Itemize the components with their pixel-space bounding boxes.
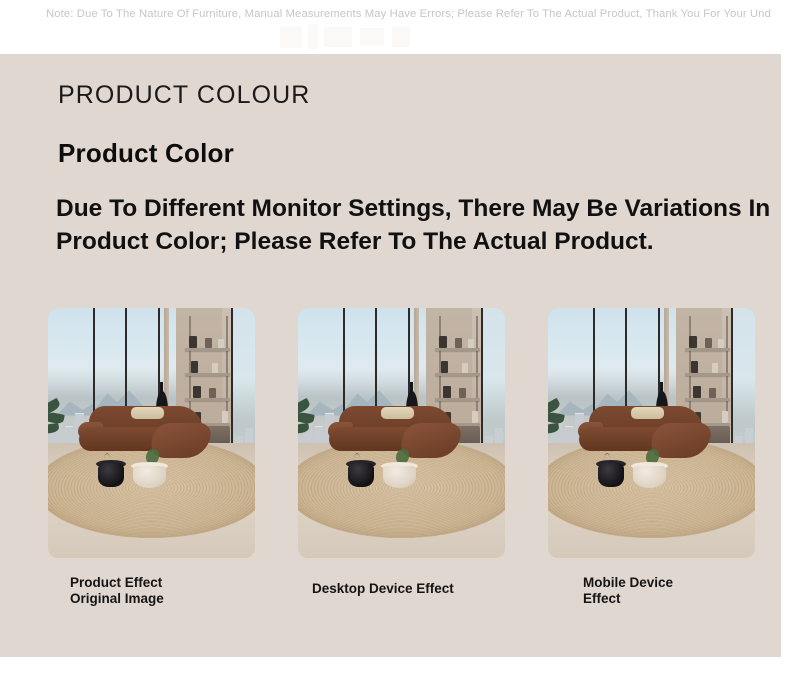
product-image-desktop[interactable] bbox=[298, 308, 505, 558]
note-strip: Note: Due To The Nature Of Furniture, Ma… bbox=[0, 0, 790, 54]
side-table-dark bbox=[598, 463, 624, 487]
caption-line-1: Desktop Device Effect bbox=[312, 581, 454, 597]
shot-row bbox=[0, 254, 781, 514]
caption-line-1: Mobile Device bbox=[583, 575, 673, 591]
coffee-table-light bbox=[133, 466, 166, 489]
caption-line-2: Effect bbox=[583, 591, 673, 607]
product-image-original[interactable] bbox=[48, 308, 255, 558]
coffee-table-light bbox=[383, 466, 416, 489]
section-subtitle: Due To Different Monitor Settings, There… bbox=[56, 192, 771, 258]
measurement-note: Note: Due To The Nature Of Furniture, Ma… bbox=[46, 8, 771, 20]
product-colour-page: Note: Due To The Nature Of Furniture, Ma… bbox=[0, 0, 790, 684]
caption-desktop: Desktop Device Effect bbox=[312, 581, 454, 597]
product-image-mobile[interactable] bbox=[548, 308, 755, 558]
content-panel: PRODUCT COLOUR Product Color Due To Diff… bbox=[0, 54, 781, 657]
room-scene bbox=[48, 308, 255, 558]
caption-original: Product Effect Original Image bbox=[70, 575, 164, 607]
section-title-main: Product Color bbox=[58, 138, 234, 169]
watermark-graphic bbox=[278, 24, 448, 50]
caption-line-2: Original Image bbox=[70, 591, 164, 607]
side-table-dark bbox=[348, 463, 374, 487]
side-table-dark bbox=[98, 463, 124, 487]
caption-mobile: Mobile Device Effect bbox=[583, 575, 673, 607]
coffee-table-light bbox=[633, 466, 666, 489]
room-scene bbox=[298, 308, 505, 558]
room-scene bbox=[548, 308, 755, 558]
section-title-english: PRODUCT COLOUR bbox=[58, 81, 310, 110]
caption-line-1: Product Effect bbox=[70, 575, 164, 591]
